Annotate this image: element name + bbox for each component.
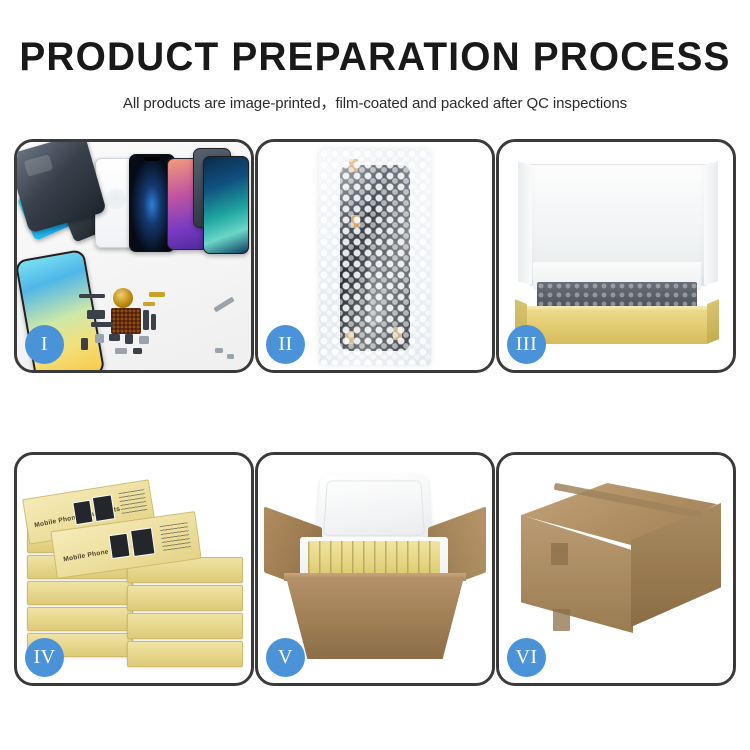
spare-part-chip — [95, 334, 104, 343]
spare-part-chip — [143, 302, 155, 306]
spare-part-flex — [143, 310, 149, 330]
panel-step-2[interactable]: II — [255, 139, 495, 373]
stacked-box — [127, 641, 243, 667]
yellow-box-front — [525, 310, 709, 344]
panel-step-3[interactable]: III — [496, 139, 736, 373]
spare-part-chip — [79, 294, 105, 298]
plastic-sheen — [319, 149, 431, 365]
speaker-coil-part — [113, 288, 133, 308]
box-product-image — [130, 527, 156, 557]
panel-step-6[interactable]: VI — [496, 452, 736, 686]
step-badge-5: V — [266, 638, 305, 677]
page-header: PRODUCT PREPARATION PROCESS All products… — [0, 0, 750, 113]
stacked-box — [27, 607, 133, 631]
phone-notch — [144, 157, 160, 161]
spare-part-chip — [139, 336, 149, 344]
foam-box-lid — [315, 474, 433, 543]
spare-part-chip — [109, 334, 120, 341]
carton-body — [286, 577, 464, 659]
step-badge-1: I — [25, 325, 64, 364]
carton-tape-upper — [551, 543, 568, 565]
phone-teal-wave — [203, 156, 249, 254]
box-spec-lines — [118, 489, 147, 517]
spare-part-flex — [151, 314, 156, 330]
spare-part-chip — [81, 338, 88, 350]
tweezers-tool — [213, 297, 234, 313]
spare-part-chip — [125, 334, 133, 344]
spare-part-chip — [133, 348, 142, 354]
box-product-image — [72, 500, 93, 526]
spare-part-screw — [227, 354, 234, 359]
panel-step-5[interactable]: V — [255, 452, 495, 686]
spare-part-chip — [91, 322, 113, 327]
bubble-wrap-bag — [319, 149, 431, 365]
panel-step-1[interactable]: I — [14, 139, 254, 373]
step-badge-6: VI — [507, 638, 546, 677]
step-badge-4: IV — [25, 638, 64, 677]
ic-chip-array — [111, 308, 141, 334]
box-product-image — [92, 494, 116, 522]
box-product-image — [108, 533, 130, 559]
process-steps-grid: I II III — [14, 139, 736, 686]
step-badge-2: II — [266, 325, 305, 364]
spare-part-chip — [115, 348, 127, 354]
page-subtitle: All products are image-printed，film-coat… — [4, 91, 747, 113]
spare-part-chip — [87, 310, 105, 319]
step-badge-3: III — [507, 325, 546, 364]
stacked-box — [127, 613, 243, 639]
carton-tape-lower — [553, 609, 570, 631]
stacked-box — [127, 585, 243, 611]
panel-step-4[interactable]: Mobile Phone Spare Parts Mobile Phone Sp… — [14, 452, 254, 686]
page-title: PRODUCT PREPARATION PROCESS — [11, 36, 739, 78]
stacked-box — [27, 581, 133, 605]
spare-part-screw — [215, 348, 223, 353]
box-spec-lines — [160, 522, 191, 551]
spare-part-chip — [149, 292, 165, 297]
